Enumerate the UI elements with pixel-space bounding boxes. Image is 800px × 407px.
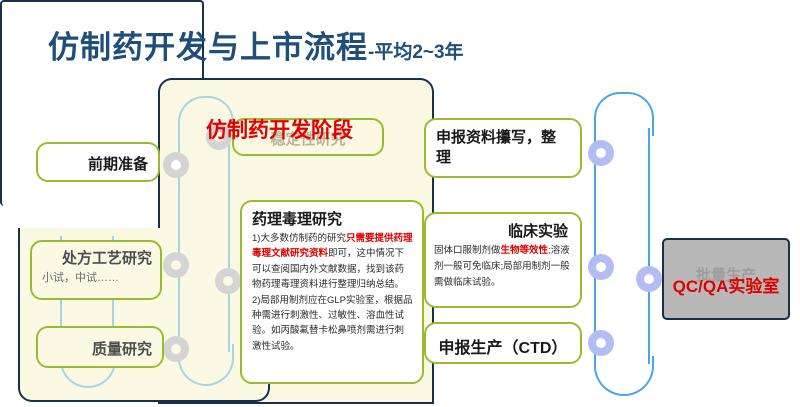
node-formulation: [163, 252, 189, 278]
connector-line-center-2: [228, 130, 230, 352]
pharmacology-line2: 2)局部用制剂应在GLP实验室，根据品种需进行刺激性、过敏性、溶血性试验。如丙酸…: [252, 295, 412, 352]
formulation-heading: 处方工艺研究: [32, 242, 160, 268]
quality-heading: 质量研究: [38, 328, 162, 359]
preparation-box[interactable]: 前期准备: [36, 142, 160, 182]
clinical-trial-box[interactable]: 临床实验 固体口服制剂做生物等效性;溶液剂一般可免临床;局部用制剂一般需做临床试…: [424, 212, 582, 308]
clinical-body: 固体口服制剂做生物等效性;溶液剂一般可免临床;局部用制剂一般需做临床试验。: [426, 243, 580, 291]
clinical-body-red: 生物等效性: [501, 245, 549, 256]
dossier-writing-box[interactable]: 申报资料攥写，整理: [424, 118, 582, 178]
mass-production-box[interactable]: 批量生产 QC/QA实验室: [662, 238, 790, 320]
connector-uturn-right: [594, 356, 654, 396]
connector-line-right-2: [648, 128, 650, 364]
ctd-heading: 申报生产（CTD）: [426, 324, 580, 358]
node-production: [636, 266, 662, 292]
pharmacology-heading: 药理毒理研究: [242, 202, 422, 231]
formulation-research-box[interactable]: 处方工艺研究 小试，中试……: [30, 240, 162, 300]
formulation-body: 小试，中试……: [32, 268, 160, 287]
production-application-box[interactable]: 申报生产（CTD）: [424, 322, 582, 364]
pharmacology-toxicology-box[interactable]: 药理毒理研究 1)大多数仿制药的研究只需要提供药理毒理文献研究资料即可，这中情况…: [240, 200, 424, 384]
node-quality: [163, 336, 189, 362]
pharmacology-line1-pre: 1)大多数仿制药的研究: [252, 233, 346, 244]
flowchart-canvas: 仿制药开发与上市流程-平均2~3年 前期准备 处方工艺研究 小试，中试…… 质量…: [0, 0, 800, 407]
node-pharmacology: [215, 268, 241, 294]
page-title-sub: -平均2~3年: [368, 42, 464, 63]
development-phase-label: 仿制药开发阶段: [206, 114, 353, 144]
node-clinical: [588, 254, 614, 280]
qc-qa-lab-label: QC/QA实验室: [664, 272, 788, 297]
clinical-body-pre: 固体口服制剂做: [434, 245, 501, 256]
pharmacology-body: 1)大多数仿制药的研究只需要提供药理毒理文献研究资料即可，这中情况下可以查阅国内…: [242, 231, 422, 354]
dossier-heading: 申报资料攥写，整理: [426, 120, 580, 167]
node-preparation: [163, 152, 189, 178]
page-title: 仿制药开发与上市流程-平均2~3年: [48, 22, 464, 67]
page-title-main: 仿制药开发与上市流程: [48, 30, 368, 65]
clinical-heading: 临床实验: [426, 214, 580, 243]
connector-toparc-right: [594, 92, 654, 136]
quality-research-box[interactable]: 质量研究: [36, 326, 164, 368]
node-dossier: [588, 140, 614, 166]
node-ctd: [588, 330, 614, 356]
preparation-heading: 前期准备: [38, 144, 158, 174]
